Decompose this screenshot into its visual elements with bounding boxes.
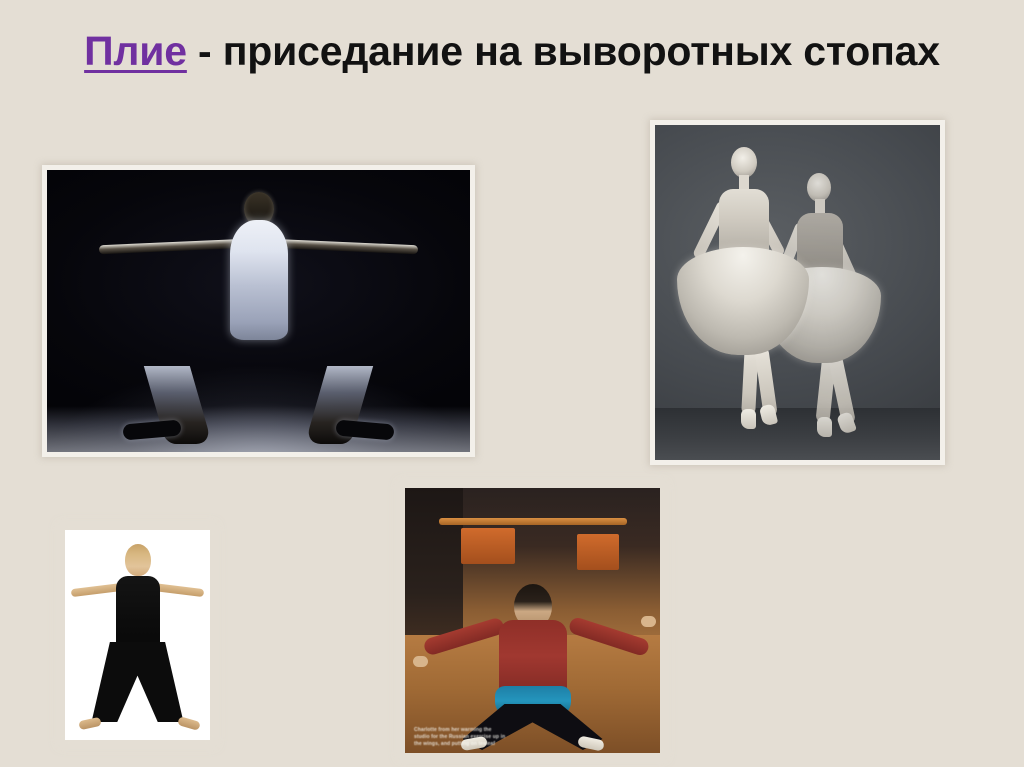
- woman-left-foot: [78, 717, 101, 730]
- studio-dancer-left-hand: [413, 656, 428, 667]
- woman-trousers: [92, 642, 184, 722]
- studio-ballet-barre: [439, 518, 627, 525]
- studio-photo-caption: Charlotte from her warming the studio fo…: [414, 727, 506, 748]
- woman-head: [125, 544, 151, 576]
- image-ballerinas-bw[interactable]: [655, 125, 940, 460]
- image-studio-grand-plie[interactable]: Charlotte from her warming the studio fo…: [405, 488, 660, 753]
- title-rest-text: - приседание на выворотных стопах: [187, 28, 940, 74]
- ballet-stage-floor: [655, 408, 940, 460]
- stage-floor-glow: [47, 406, 470, 452]
- page-title: Плие - приседание на выворотных стопах: [60, 26, 964, 76]
- dancer-torso: [230, 220, 288, 340]
- woman-right-foot: [177, 716, 201, 731]
- studio-crate-left: [461, 528, 515, 564]
- studio-dancer-right-hand: [641, 616, 656, 627]
- ballerina-front-head: [731, 147, 757, 178]
- image-stage-dancer[interactable]: [47, 170, 470, 452]
- title-hyperlink-plie[interactable]: Плие: [84, 28, 187, 74]
- ballerina-front-left-pointe-shoe: [741, 409, 756, 429]
- woman-right-arm: [152, 583, 205, 597]
- dancer-left-arm: [99, 239, 249, 255]
- presentation-slide: Плие - приседание на выворотных стопах: [0, 0, 1024, 767]
- studio-crate-right: [577, 534, 619, 570]
- image-woman-black-outfit[interactable]: [65, 530, 210, 740]
- dancer-right-arm: [268, 239, 418, 255]
- ballerina-front-bodice: [719, 189, 769, 255]
- ballerina-back-bodice: [797, 213, 843, 273]
- ballerina-back-head: [807, 173, 831, 202]
- dancer-hips: [193, 330, 325, 396]
- ballerina-back-left-pointe-shoe: [817, 417, 832, 437]
